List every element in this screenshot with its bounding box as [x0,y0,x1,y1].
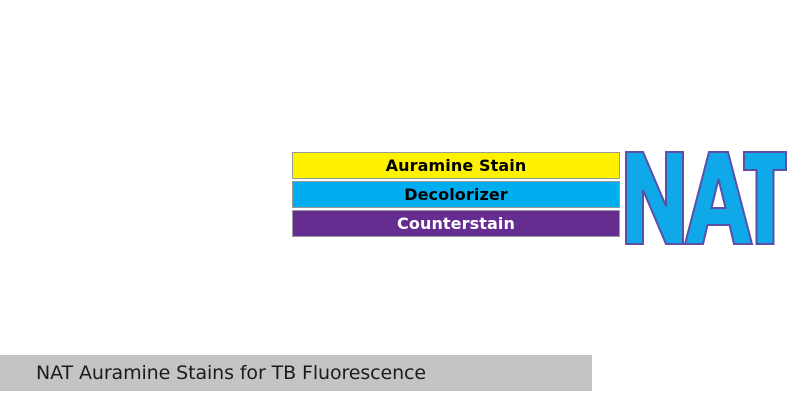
stain-bar-auramine-stain: Auramine Stain [292,152,620,179]
stain-stack: Auramine Stain Decolorizer Counterstain [292,152,620,239]
nat-wordmark-icon [624,150,788,246]
stain-bar-label-counterstain: Counterstain [397,216,515,232]
stain-bar-decolorizer: Decolorizer [292,181,620,208]
nat-logo [624,150,788,246]
stain-bar-label-auramine-stain: Auramine Stain [386,158,527,174]
caption-text: NAT Auramine Stains for TB Fluorescence [36,362,426,384]
stain-bar-label-decolorizer: Decolorizer [404,187,508,203]
caption-bar: NAT Auramine Stains for TB Fluorescence [0,355,592,391]
figure-canvas: Auramine Stain Decolorizer Counterstain … [0,0,800,400]
stain-bar-counterstain: Counterstain [292,210,620,237]
